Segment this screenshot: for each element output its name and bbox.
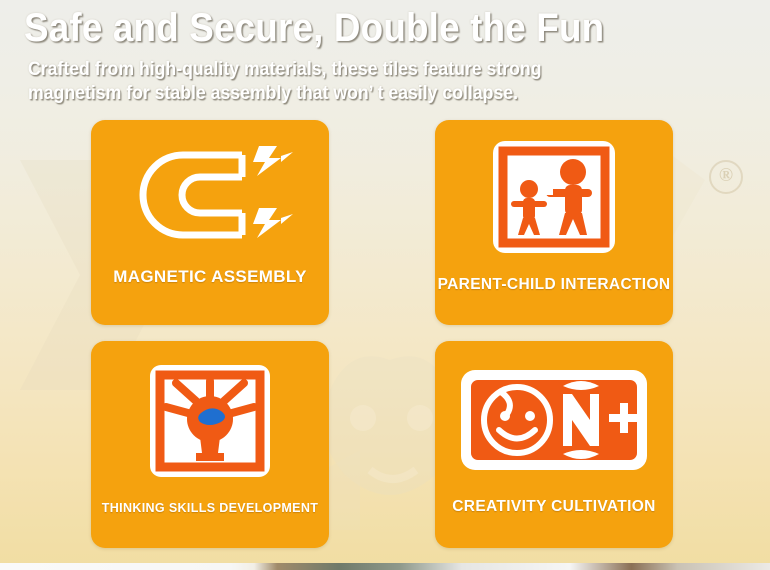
page-subtitle-line-1: Crafted from high-quality materials, the… <box>28 58 694 82</box>
card-icon-wrap <box>435 355 673 485</box>
feature-card-creativity-cultivation[interactable]: CREATIVITY CULTIVATION <box>435 341 673 548</box>
page-bottom-edge-sliver <box>0 563 770 570</box>
card-label-magnetic-assembly: MAGNETIC ASSEMBLY <box>91 267 329 287</box>
card-icon-wrap <box>91 138 329 258</box>
card-label-thinking-skills-development: THINKING SKILLS DEVELOPMENT <box>91 501 329 515</box>
feature-card-parent-child-interaction[interactable]: PARENT-CHILD INTERACTION <box>435 120 673 325</box>
parent-child-figures-icon <box>489 137 619 257</box>
card-icon-wrap <box>91 355 329 490</box>
feature-card-thinking-skills-development[interactable]: THINKING SKILLS DEVELOPMENT <box>91 341 329 548</box>
page-subtitle-line-2: magnetism for stable assembly that won’ … <box>28 82 694 106</box>
promo-banner: ® Safe and Secure, Double the Fun Crafte… <box>0 0 770 570</box>
feature-card-magnetic-assembly[interactable]: MAGNETIC ASSEMBLY <box>91 120 329 325</box>
page-title: Safe and Secure, Double the Fun <box>24 2 696 54</box>
page-subtitle: Crafted from high-quality materials, the… <box>28 58 694 106</box>
registered-trademark-icon: ® <box>709 160 743 194</box>
smiley-face-n-plus-icon <box>459 366 649 474</box>
lightbulb-brain-idea-icon <box>146 361 274 485</box>
card-label-creativity-cultivation: CREATIVITY CULTIVATION <box>435 498 673 516</box>
card-icon-wrap <box>435 132 673 262</box>
horseshoe-magnet-icon <box>125 142 295 254</box>
card-label-parent-child-interaction: PARENT-CHILD INTERACTION <box>435 276 673 294</box>
